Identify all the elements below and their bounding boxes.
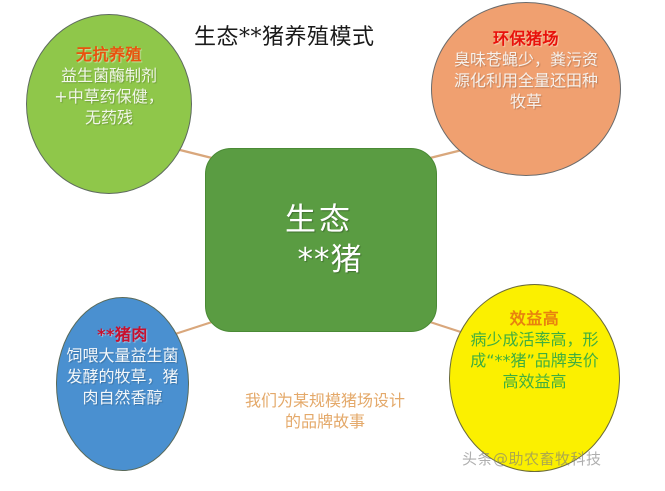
bubble-anti-antibiotic[interactable]: 无抗养殖 益生菌酶制剂+中草药保健，无药残	[26, 14, 192, 194]
center-node-line2: **猪	[280, 240, 363, 280]
watermark: 头条@助农畜牧科技	[462, 450, 602, 469]
bubble-pork-body: 饲喂大量益生菌发酵的牧草，猪肉自然香醇	[64, 345, 182, 408]
bubble-profit-body: 病少成活率高，形成“**猪”品牌卖价高效益高	[465, 329, 605, 392]
caption-text: 我们为某规模猪场设计的品牌故事	[240, 390, 410, 432]
center-node-line1: 生态	[285, 200, 357, 240]
infographic-canvas: 生态**猪养殖模式 生态 **猪 无抗养殖 益生菌酶制剂+中草药保健，无药残 环…	[0, 0, 665, 491]
bubble-anti-antibiotic-body: 益生菌酶制剂+中草药保健，无药残	[47, 65, 171, 128]
bubble-profit[interactable]: 效益高 病少成活率高，形成“**猪”品牌卖价高效益高	[449, 284, 620, 472]
bubble-eco-farm-body: 臭味苍蝇少，粪污资源化利用全量还田种牧草	[450, 49, 602, 112]
center-node[interactable]: 生态 **猪	[205, 148, 437, 332]
bubble-pork[interactable]: **猪肉 饲喂大量益生菌发酵的牧草，猪肉自然香醇	[56, 297, 189, 471]
page-title: 生态**猪养殖模式	[194, 24, 375, 52]
bubble-anti-antibiotic-title: 无抗养殖	[76, 45, 142, 65]
bubble-pork-title: **猪肉	[97, 325, 148, 345]
bubble-profit-title: 效益高	[510, 309, 560, 329]
bubble-eco-farm[interactable]: 环保猪场 臭味苍蝇少，粪污资源化利用全量还田种牧草	[431, 2, 621, 176]
bubble-eco-farm-title: 环保猪场	[493, 29, 559, 49]
connector-line-bottom-left	[172, 322, 212, 335]
